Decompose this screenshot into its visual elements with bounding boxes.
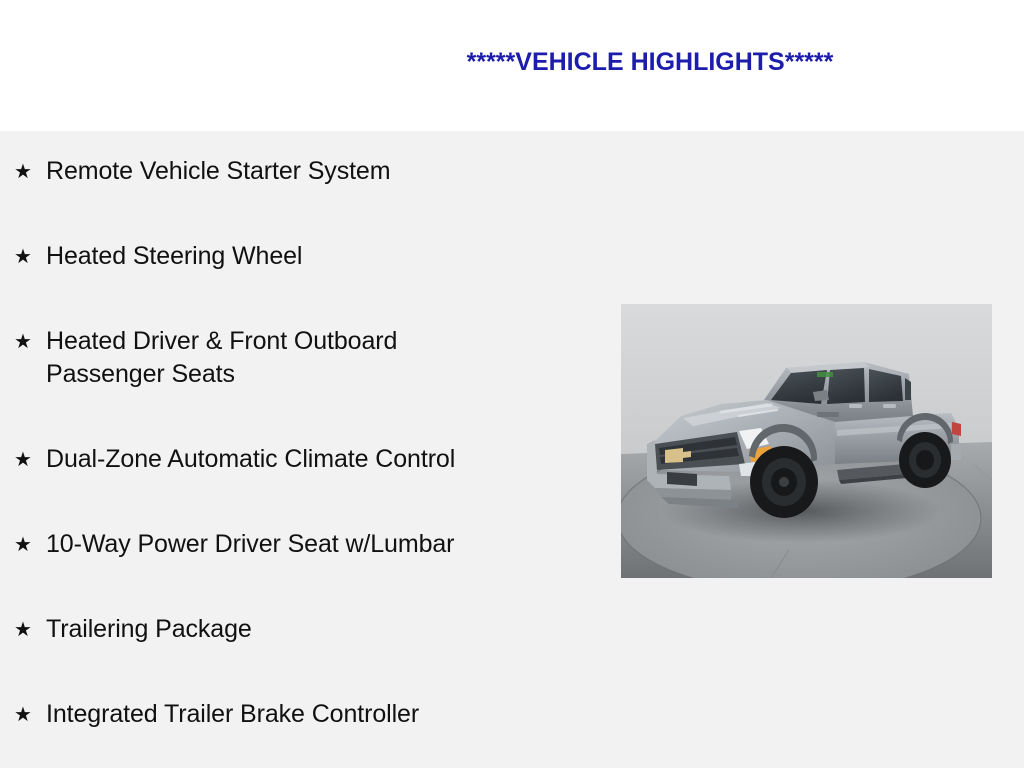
star-bullet-icon: ★ (14, 325, 46, 357)
star-bullet-icon: ★ (14, 155, 46, 187)
star-bullet-icon: ★ (14, 613, 46, 645)
list-item: ★ Heated Steering Wheel (0, 240, 620, 273)
star-bullet-icon: ★ (14, 443, 46, 475)
highlight-label: Heated Driver & Front Outboard Passenger… (46, 325, 516, 391)
list-item: ★ 10-Way Power Driver Seat w/Lumbar (0, 528, 620, 561)
star-bullet-icon: ★ (14, 698, 46, 730)
list-item: ★ Integrated Trailer Brake Controller (0, 698, 620, 731)
list-item: ★ Trailering Package (0, 613, 620, 646)
list-item: ★ Remote Vehicle Starter System (0, 155, 620, 188)
page-title: *****VEHICLE HIGHLIGHTS***** (420, 48, 880, 77)
highlight-label: Heated Steering Wheel (46, 240, 516, 273)
list-item: ★ Dual-Zone Automatic Climate Control (0, 443, 620, 476)
highlight-label: Trailering Package (46, 613, 516, 646)
highlight-label: Dual-Zone Automatic Climate Control (46, 443, 516, 476)
highlight-label: 10-Way Power Driver Seat w/Lumbar (46, 528, 516, 561)
vehicle-highlights-list: ★ Remote Vehicle Starter System ★ Heated… (0, 131, 620, 768)
list-item: ★ Heated Driver & Front Outboard Passeng… (0, 325, 620, 391)
star-bullet-icon: ★ (14, 240, 46, 272)
star-bullet-icon: ★ (14, 528, 46, 560)
highlight-label: Integrated Trailer Brake Controller (46, 698, 516, 731)
highlight-label: Remote Vehicle Starter System (46, 155, 516, 188)
vehicle-photo (621, 304, 992, 578)
